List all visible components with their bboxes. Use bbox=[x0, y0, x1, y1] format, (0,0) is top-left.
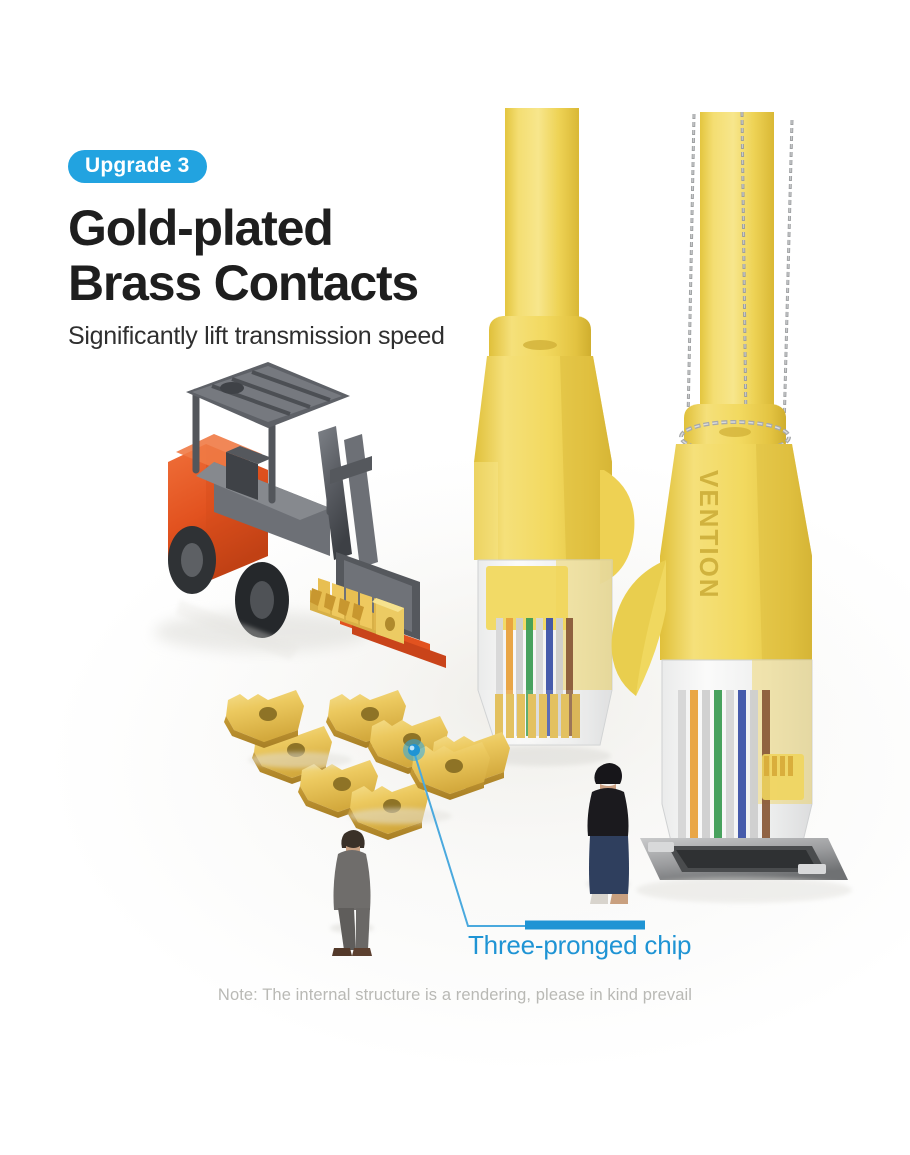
product-feature-banner: VENTION bbox=[0, 0, 910, 1155]
subtitle: Significantly lift transmission speed bbox=[68, 322, 445, 351]
floor-socket bbox=[640, 838, 848, 880]
page-title: Gold-plated Brass Contacts bbox=[68, 201, 445, 311]
headline-line-2: Brass Contacts bbox=[68, 256, 445, 311]
disclaimer-note: Note: The internal structure is a render… bbox=[0, 986, 910, 1005]
cable-connector-left bbox=[474, 108, 634, 766]
headline-line-1: Gold-plated bbox=[68, 200, 333, 256]
callout-label: Three-pronged chip bbox=[468, 930, 691, 961]
headline-block: Upgrade 3 Gold-plated Brass Contacts Sig… bbox=[68, 150, 445, 351]
brand-text: VENTION bbox=[694, 470, 724, 600]
upgrade-badge: Upgrade 3 bbox=[68, 150, 207, 183]
